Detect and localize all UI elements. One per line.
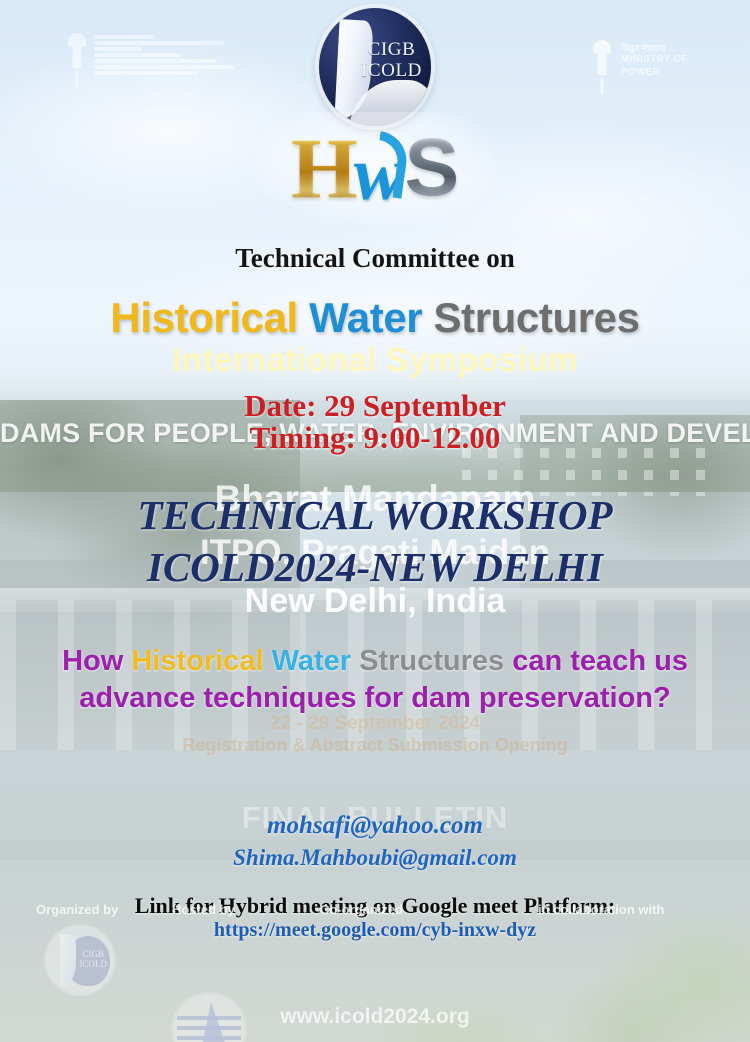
icold-line1: CIGB [361, 40, 422, 61]
ashoka-pillar-icon [591, 40, 613, 82]
contact-email-1[interactable]: mohsafi@yahoo.com [0, 812, 750, 840]
hws-logo-letters: H w S [291, 124, 459, 212]
page-title: Historical Water Structures [0, 294, 750, 342]
hws-letter-h: H [291, 125, 358, 211]
event-date: Date: 29 September [0, 388, 750, 424]
icold-logo-text: CIGB ICOLD [361, 40, 422, 81]
question-word-historical: Historical [131, 645, 263, 677]
workshop-question: How Historical Water Structures can teac… [40, 643, 710, 717]
question-prefix: How [62, 645, 131, 677]
ministry-hindi-label: विद्युत मंत्रालय [621, 43, 688, 54]
ministry-line2: POWER [621, 67, 688, 80]
sponsor-icold-text: CIGB ICOLD [80, 950, 108, 970]
committee-label: Technical Committee on [0, 243, 750, 274]
label-organized-by: Organized by [36, 902, 118, 917]
title-word-historical: Historical [110, 294, 297, 341]
label-co-organized: Co-organized [320, 902, 403, 917]
cigb-icold-logo: CIGB ICOLD [319, 8, 431, 126]
ministry-of-power-text: विद्युत मंत्रालय MINISTRY OF POWER [621, 40, 688, 79]
sponsor-host-dam-logo [173, 994, 245, 1042]
emblem-text-lines [94, 33, 234, 75]
workshop-title-line1: TECHNICAL WORKSHOP [0, 491, 750, 539]
label-in-collaboration-with: in collaboration with [538, 902, 664, 917]
title-word-water: Water [309, 294, 422, 341]
ashoka-pillar-icon [66, 33, 88, 75]
sponsor-strip: Organized by Hosted by Co-organized in c… [0, 898, 750, 1008]
poster-canvas: International Symposium DAMS FOR PEOPLE,… [0, 0, 750, 1042]
title-word-structures: Structures [434, 294, 640, 341]
workshop-title-line2: ICOLD2024-NEW DELHI [0, 543, 750, 591]
hws-letter-s: S [404, 127, 459, 209]
hws-logo: H w S [255, 112, 495, 224]
sponsor-cigb-icold-logo: CIGB ICOLD [46, 926, 114, 994]
government-of-india-emblem [66, 33, 234, 75]
question-word-structures: Structures [359, 645, 504, 677]
event-time: Timing: 9:00-12.00 [0, 420, 750, 456]
label-hosted-by: Hosted by [172, 902, 235, 917]
ministry-line1: MINISTRY OF [621, 54, 688, 67]
sponsor-icold-line2: ICOLD [80, 960, 108, 970]
contact-email-2[interactable]: Shima.Mahboubi@gmail.com [0, 845, 750, 871]
question-word-water: Water [272, 645, 352, 677]
ministry-of-power-emblem: विद्युत मंत्रालय MINISTRY OF POWER [591, 40, 688, 82]
icold-line2: ICOLD [361, 61, 422, 82]
logo-dam-triangle [199, 1002, 231, 1042]
